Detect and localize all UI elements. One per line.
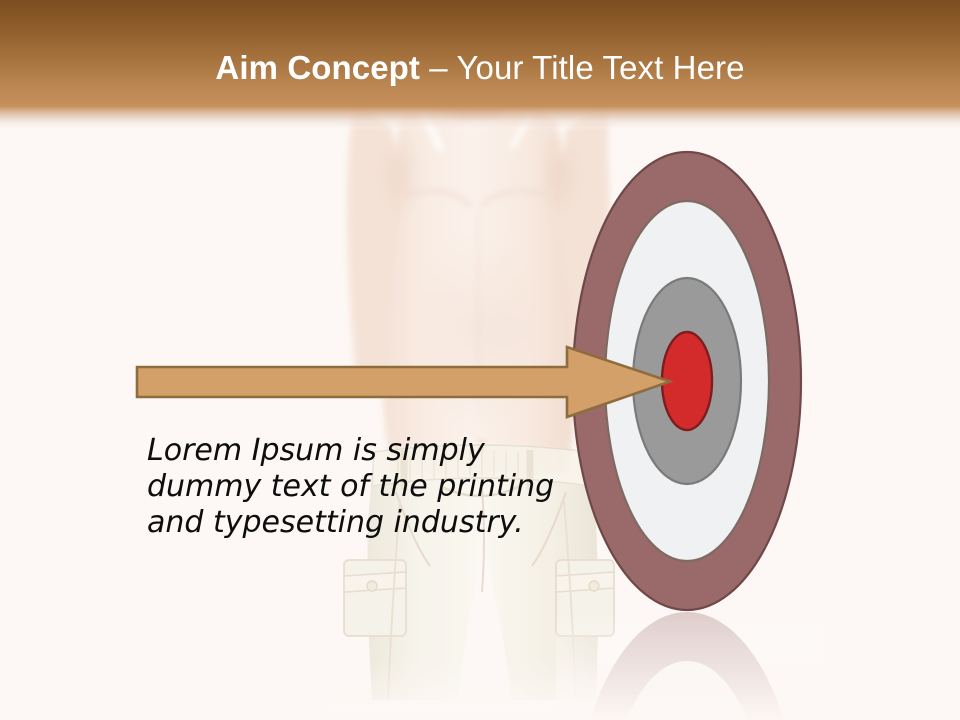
page-title-bold: Aim Concept bbox=[215, 49, 420, 86]
body-text-line-1: Lorem Ipsum is simply bbox=[147, 433, 567, 469]
body-text-line-3: and typesetting industry. bbox=[147, 505, 567, 541]
page-title-separator: – bbox=[420, 49, 456, 86]
slide-canvas: Aim Concept – Your Title Text Here Lorem… bbox=[0, 0, 960, 720]
body-text-block: Lorem Ipsum is simply dummy text of the … bbox=[147, 433, 567, 541]
body-text-line-2: dummy text of the printing bbox=[147, 469, 567, 505]
header-fade bbox=[0, 106, 960, 132]
page-title-rest: Your Title Text Here bbox=[456, 49, 744, 86]
page-title: Aim Concept – Your Title Text Here bbox=[0, 49, 960, 87]
